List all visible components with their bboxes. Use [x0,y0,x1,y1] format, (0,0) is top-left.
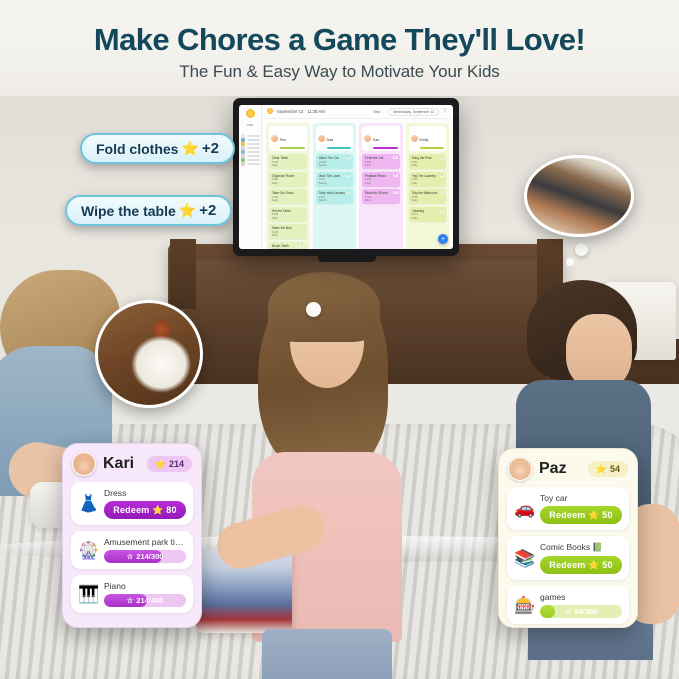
dress-icon: 👗 [78,495,98,512]
reward-item[interactable]: 🚗Toy carRedeem ⭐ 50 [507,487,629,530]
reward-item[interactable]: 👗DressRedeem ⭐ 80 [71,482,193,525]
task-repeat: Daily [272,234,304,237]
points-badge: ⭐ 214 [147,456,192,472]
star-icon: ⭐ [181,140,198,157]
redeem-cost: 80 [166,505,176,515]
task-points-badge: 2 [440,209,444,212]
task-points-badge: 2 [440,174,444,177]
task-repeat: Daily [412,182,444,185]
points-value: 214 [169,459,184,469]
thought-dot-large-left [306,302,321,317]
points-value: 54 [610,464,620,474]
tablet-device: PBB September 13 11:35 AM View Wednesday… [233,98,459,256]
task-card[interactable]: 2Pay The Laundry2 PMDaily [409,172,447,187]
task-points-badge: 2 [440,191,444,194]
task-card[interactable]: Set the Table6 PMDaily [269,207,307,222]
task-card[interactable]: 5Mow The Lawn1 PMWeekly [316,172,354,187]
sidebar-item-settings[interactable] [239,162,260,166]
task-repeat: Daily [412,217,444,220]
progress-bar [280,147,305,149]
column-header: Emily [409,126,447,151]
tablet-screen[interactable]: PBB September 13 11:35 AM View Wednesday… [239,105,453,249]
inset-photo-comic-books [524,155,634,237]
task-repeat: Daily [412,199,444,202]
progress-value: 214/300 [136,552,163,561]
comic-books-icon: 📚 [514,550,534,567]
star-icon: ⭐ [179,202,196,219]
page-subtitle: The Fun & Easy Way to Motivate Your Kids [0,62,679,82]
chore-board[interactable]: PazClear Table8 AMDailyOrganize Room9 AM… [262,119,453,249]
task-title: Mow The Lawn [319,174,351,178]
avatar [72,452,96,476]
task-title: Feed the Cat [365,156,397,160]
bubble-points: +2 [199,202,216,219]
reward-card-header: Paz ⭐ 54 [499,449,637,487]
reward-label: Dress [104,488,186,498]
task-points-badge: 5 [347,191,351,194]
task-card[interactable]: 2Feed the Cat8 AMDaily [362,154,400,169]
redeem-button[interactable]: Redeem ⭐ 50 [540,556,622,574]
reward-item[interactable]: 🎰games☆54/300 [507,586,629,624]
task-repeat: Daily [272,217,304,220]
child-name: Kari [103,455,140,473]
task-repeat: Daily [272,164,304,167]
column-name: Paz [280,138,286,142]
app-logo-text: PBB [247,123,253,127]
avatar [318,135,325,142]
task-title: Clear Table [272,156,304,160]
task-time: Evening [272,248,304,249]
bubble-points: +2 [202,140,219,157]
task-repeat: Daily [365,182,397,185]
task-repeat: Daily [412,164,444,167]
task-points-badge: 5 [347,156,351,159]
column-header: Kari [362,126,400,151]
column-header: Dad [316,126,354,151]
reward-item[interactable]: 📚Comic Books 📗Redeem ⭐ 50 [507,536,629,580]
progress-bar: ☆54/300 [540,605,622,618]
boy-face [566,314,632,390]
task-title: Bring the Post [412,156,444,160]
star-icon: ⭐ [588,510,599,520]
star-icon: ⭐ [596,464,607,475]
sidebar-item-label [247,143,260,145]
bubble-label: Wipe the table [81,203,176,219]
task-repeat: Daily [272,182,304,185]
points-badge: ⭐ 54 [588,461,628,477]
task-card[interactable]: 2Bring the Post9 AMDaily [409,154,447,169]
thought-dot-small-right [566,258,574,266]
app-main: September 13 11:35 AM View Wednesday, Se… [262,105,453,249]
header-band: Make Chores a Game They'll Love! The Fun… [0,0,679,96]
column-name: Emily [420,138,429,142]
redeem-cost: 50 [602,510,612,520]
progress-bar: ☆214/300 [104,550,186,563]
sidebar-item-label [247,147,260,149]
inset-photo-dress [95,300,203,408]
column-header: Paz [269,126,307,151]
board-column-emily[interactable]: Emily2Bring the Post9 AMDaily2Pay The La… [406,123,450,249]
board-column-dad[interactable]: Dad5Wash The Car10 AMWeekly5Mow The Lawn… [313,123,357,249]
headboard-post-left [170,239,196,309]
avatar [411,135,418,142]
sidebar-item-label [247,163,260,165]
star-icon: ⭐ [155,459,166,470]
reward-label: Piano [104,581,186,591]
task-title: Brush Teeth [272,244,304,248]
sidebar-item-label [247,159,260,161]
chore-bubble-fold-clothes: Fold clothes ⭐ +2 [80,133,235,164]
board-column-kari[interactable]: Kari2Feed the Cat8 AMDaily2Practice Pian… [359,123,403,249]
task-card[interactable]: Organize Room9 AMDaily [269,172,307,187]
task-points-badge: 2 [393,191,397,194]
chore-bubble-wipe-the-table: Wipe the table ⭐ +2 [65,195,232,226]
task-card[interactable]: 2Brush TeethEveningDaily [269,242,307,249]
toy-car-icon: 🚗 [514,500,534,517]
star-icon: ☆ [127,596,134,605]
avatar [364,135,371,142]
girl-hair-front [268,272,380,342]
task-title: Make the Bed [272,226,304,230]
redeem-button[interactable]: Redeem ⭐ 80 [104,501,186,519]
star-icon: ☆ [565,607,572,616]
reward-label: Comic Books 📗 [540,542,622,553]
task-repeat: Weekly [319,164,351,167]
reward-item[interactable]: 🎹Piano☆214/400 [71,575,193,613]
progress-value: 214/400 [136,596,163,605]
task-points-badge: 2 [393,174,397,177]
task-repeat: Weekly [319,199,351,202]
page-title: Make Chores a Game They'll Love! [0,22,679,58]
girl-shorts [262,629,392,679]
task-title: Organize Room [272,174,304,178]
child-name: Paz [539,460,581,478]
sidebar-item-label [247,151,260,153]
star-icon: ⭐ [588,560,599,570]
progress-value: 54/300 [574,607,597,616]
task-card[interactable]: Make the Bed8 AMDaily [269,224,307,239]
task-card[interactable]: 2Read for 20 min7 PMDaily [362,189,400,204]
reward-card-header: Kari ⭐ 214 [63,444,201,482]
task-title: Cleaning [412,209,444,213]
sidebar-item-label [247,139,260,141]
task-points-badge: 2 [393,156,397,159]
task-points-badge: 2 [440,156,444,159]
app-sidebar[interactable]: PBB [239,105,262,249]
task-card[interactable]: 2Tidy the Bathroom4 PMDaily [409,189,447,204]
reward-card-paz[interactable]: Paz ⭐ 54 🚗Toy carRedeem ⭐ 50📚Comic Books… [498,448,638,628]
progress-bar [373,147,398,149]
toolbar-time: 11:35 AM [307,109,324,114]
reward-card-kari[interactable]: Kari ⭐ 214 👗DressRedeem ⭐ 80🎡Amusement p… [62,443,202,628]
add-task-fab[interactable]: + [438,234,448,244]
task-card[interactable]: 5Shop with Laundry3 PMWeekly [316,189,354,204]
progress-bar: ☆214/400 [104,594,186,607]
task-card[interactable]: Take Out Trash4 PMDaily [269,189,307,204]
reward-label: Toy car [540,493,622,503]
task-points-badge: 2 [300,244,304,247]
reward-label: games [540,592,622,602]
task-title: Take Out Trash [272,191,304,195]
view-selector[interactable]: View [369,109,384,115]
star-icon: ☆ [127,552,134,561]
piano-icon: 🎹 [78,586,98,603]
amusement-park-icon: 🎡 [78,542,98,559]
star-icon: ⭐ [152,505,163,515]
task-repeat: Daily [272,199,304,202]
app-logo-icon [246,109,255,118]
toolbar-star-icon [267,108,273,114]
reward-item-list: 👗DressRedeem ⭐ 80🎡Amusement park tickets… [63,482,201,621]
task-card[interactable]: 2Cleaning5 PMDaily [409,207,447,222]
app-toolbar: September 13 11:35 AM View Wednesday, Se… [262,105,453,119]
settings-icon [241,162,245,166]
task-repeat: Daily [365,164,397,167]
week-selector[interactable]: Wednesday, September 13 [388,108,439,116]
task-title: Tidy the Bathroom [412,191,444,195]
task-title: Practice Piano [365,174,397,178]
filter-icon[interactable]: ▽ [443,109,448,114]
games-icon: 🎰 [514,597,534,614]
sidebar-item-label [247,155,260,157]
promo-image: Make Chores a Game They'll Love! The Fun… [0,0,679,679]
task-title: Shop with Laundry [319,191,351,195]
task-title: Read for 20 min [365,191,397,195]
board-column-paz[interactable]: PazClear Table8 AMDailyOrganize Room9 AM… [266,123,310,249]
reward-label: Amusement park tickets [104,537,186,547]
task-card[interactable]: 5Wash The Car10 AMWeekly [316,154,354,169]
avatar [508,457,532,481]
task-card[interactable]: Clear Table8 AMDaily [269,154,307,169]
progress-bar [420,147,445,149]
task-repeat: Daily [365,199,397,202]
reward-item-list: 🚗Toy carRedeem ⭐ 50📚Comic Books 📗Redeem … [499,487,637,628]
sidebar-item-label [247,135,260,137]
task-title: Pay The Laundry [412,174,444,178]
task-repeat: Weekly [319,182,351,185]
redeem-button[interactable]: Redeem ⭐ 50 [540,506,622,524]
task-card[interactable]: 2Practice Piano5 PMDaily [362,172,400,187]
toolbar-date: September 13 [277,109,303,114]
progress-bar [327,147,352,149]
task-title: Wash The Car [319,156,351,160]
thought-dot-large-right [575,243,588,256]
column-name: Dad [327,138,334,142]
bubble-label: Fold clothes [96,141,178,157]
redeem-cost: 50 [602,560,612,570]
task-title: Set the Table [272,209,304,213]
reward-item[interactable]: 🎡Amusement park tickets☆214/300 [71,531,193,569]
column-name: Kari [373,138,379,142]
avatar [271,135,278,142]
task-points-badge: 5 [347,174,351,177]
